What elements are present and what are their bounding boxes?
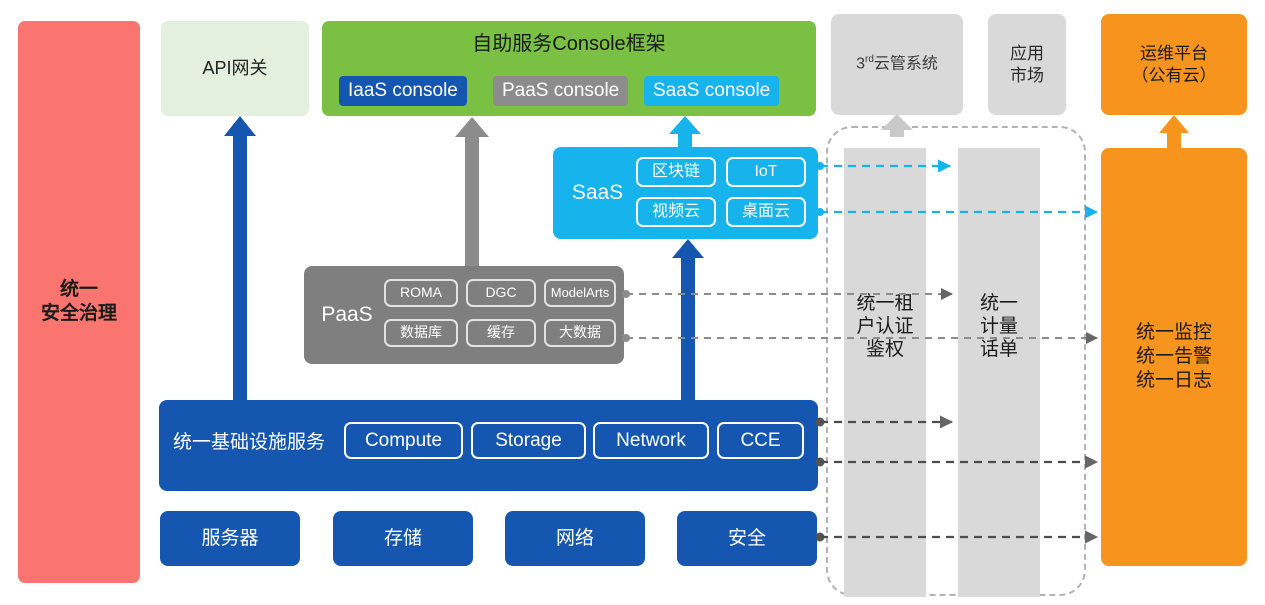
- saas-service-desktop-cloud-label: 桌面云: [742, 202, 790, 222]
- paas-service-dgc-label: DGC: [485, 284, 516, 302]
- paas-service-modelarts-label: ModelArts: [551, 285, 610, 301]
- arrow-saas-to-console: [669, 116, 701, 147]
- app-market-line1: 应用: [1010, 43, 1044, 64]
- unified-metering-billing-column[interactable]: 统一 计量 话单: [958, 148, 1040, 597]
- saas-service-video-cloud[interactable]: 视频云: [636, 197, 716, 227]
- infra-service-compute[interactable]: Compute: [344, 422, 463, 459]
- third-party-cloud-mgmt-label: 3rd云管系统: [856, 54, 938, 74]
- paas-console-chip[interactable]: PaaS console: [493, 76, 628, 106]
- paas-service-bigdata-label: 大数据: [559, 324, 601, 342]
- unified-monitoring-line1: 统一监控: [1136, 321, 1212, 345]
- unified-monitoring-label: 统一监控 统一告警 统一日志: [1136, 321, 1212, 392]
- security-governance-label: 统一 安全治理: [41, 278, 117, 326]
- arrow-infra-to-api-gateway: [224, 116, 256, 400]
- api-gateway-box[interactable]: API网关: [161, 21, 309, 116]
- security-governance-column[interactable]: 统一 安全治理: [18, 21, 140, 583]
- unified-tenant-auth-line3: 鉴权: [844, 338, 926, 361]
- paas-service-database[interactable]: 数据库: [384, 319, 458, 347]
- third-party-suffix: 云管系统: [874, 56, 938, 73]
- app-market-line2: 市场: [1010, 65, 1044, 86]
- ops-platform-label: 运维平台 （公有云）: [1132, 43, 1217, 86]
- saas-console-label: SaaS console: [653, 79, 770, 103]
- unified-metering-billing-label: 统一 计量 话单: [958, 292, 1040, 362]
- app-market-label: 应用 市场: [1010, 43, 1044, 86]
- infra-service-network-label: Network: [616, 429, 686, 453]
- security-governance-line2: 安全治理: [41, 302, 117, 326]
- unified-infrastructure-bar[interactable]: 统一基础设施服务 Compute Storage Network CCE: [159, 400, 818, 491]
- iaas-console-chip[interactable]: IaaS console: [339, 76, 467, 106]
- ops-platform-box[interactable]: 运维平台 （公有云）: [1101, 14, 1247, 115]
- unified-tenant-auth-line2: 户认证: [844, 315, 926, 338]
- saas-service-blockchain-label: 区块链: [652, 162, 700, 182]
- console-framework-box[interactable]: 自助服务Console框架 IaaS console PaaS console …: [322, 21, 816, 116]
- paas-service-bigdata[interactable]: 大数据: [544, 319, 616, 347]
- arrow-infra-to-saas: [672, 239, 704, 400]
- paas-service-dgc[interactable]: DGC: [466, 279, 536, 307]
- infra-service-cce[interactable]: CCE: [717, 422, 804, 459]
- unified-metering-billing-line3: 话单: [958, 338, 1040, 361]
- paas-console-label: PaaS console: [502, 79, 619, 103]
- unified-log-line3: 统一日志: [1136, 369, 1212, 393]
- unified-metering-billing-line2: 计量: [958, 315, 1040, 338]
- saas-layer-label: SaaS: [565, 180, 630, 206]
- saas-service-iot[interactable]: IoT: [726, 157, 806, 187]
- saas-service-blockchain[interactable]: 区块链: [636, 157, 716, 187]
- saas-service-desktop-cloud[interactable]: 桌面云: [726, 197, 806, 227]
- paas-layer-box[interactable]: PaaS ROMA DGC ModelArts 数据库 缓存 大数据: [304, 266, 624, 364]
- unified-infrastructure-label: 统一基础设施服务: [173, 431, 325, 455]
- unified-tenant-auth-label: 统一租 户认证 鉴权: [844, 292, 926, 362]
- infra-service-storage-label: Storage: [495, 429, 562, 453]
- arrow-paas-to-console: [455, 117, 489, 266]
- third-party-cloud-mgmt-box[interactable]: 3rd云管系统: [831, 14, 963, 115]
- paas-service-modelarts[interactable]: ModelArts: [544, 279, 616, 307]
- resource-box-network[interactable]: 网络: [505, 511, 645, 566]
- ops-platform-line2: （公有云）: [1132, 65, 1217, 86]
- arrow-ops-column-to-ops-platform: [1159, 115, 1189, 148]
- paas-service-database-label: 数据库: [400, 324, 442, 342]
- third-party-superscript: rd: [865, 54, 874, 65]
- resource-box-security-label: 安全: [728, 527, 766, 551]
- paas-service-roma-label: ROMA: [400, 284, 442, 302]
- unified-tenant-auth-line1: 统一租: [844, 292, 926, 315]
- security-governance-line1: 统一: [41, 278, 117, 302]
- paas-service-cache-label: 缓存: [487, 324, 515, 342]
- infra-service-network[interactable]: Network: [593, 422, 709, 459]
- third-party-prefix: 3: [856, 56, 865, 73]
- unified-tenant-auth-column[interactable]: 统一租 户认证 鉴权: [844, 148, 926, 597]
- unified-monitoring-column[interactable]: 统一监控 统一告警 统一日志: [1101, 148, 1247, 566]
- app-market-box[interactable]: 应用 市场: [988, 14, 1066, 115]
- infra-service-storage[interactable]: Storage: [471, 422, 586, 459]
- api-gateway-label: API网关: [202, 57, 267, 80]
- unified-alarm-line2: 统一告警: [1136, 345, 1212, 369]
- infra-service-compute-label: Compute: [365, 429, 442, 453]
- saas-service-iot-label: IoT: [754, 162, 777, 182]
- saas-console-chip[interactable]: SaaS console: [644, 76, 779, 106]
- paas-service-cache[interactable]: 缓存: [466, 319, 536, 347]
- architecture-diagram: 统一 安全治理 API网关 自助服务Console框架 IaaS console…: [0, 0, 1265, 605]
- iaas-console-label: IaaS console: [348, 79, 458, 103]
- paas-service-roma[interactable]: ROMA: [384, 279, 458, 307]
- console-framework-title: 自助服务Console框架: [322, 32, 816, 57]
- resource-box-server[interactable]: 服务器: [160, 511, 300, 566]
- resource-box-security[interactable]: 安全: [677, 511, 817, 566]
- unified-metering-billing-line1: 统一: [958, 292, 1040, 315]
- resource-box-network-label: 网络: [556, 527, 594, 551]
- infra-service-cce-label: CCE: [740, 429, 780, 453]
- resource-box-storage[interactable]: 存储: [333, 511, 473, 566]
- paas-layer-label: PaaS: [314, 302, 380, 328]
- saas-service-video-cloud-label: 视频云: [652, 202, 700, 222]
- resource-box-storage-label: 存储: [384, 527, 422, 551]
- resource-box-server-label: 服务器: [201, 527, 258, 551]
- saas-layer-box[interactable]: SaaS 区块链 IoT 视频云 桌面云: [553, 147, 818, 239]
- ops-platform-line1: 运维平台: [1132, 43, 1217, 64]
